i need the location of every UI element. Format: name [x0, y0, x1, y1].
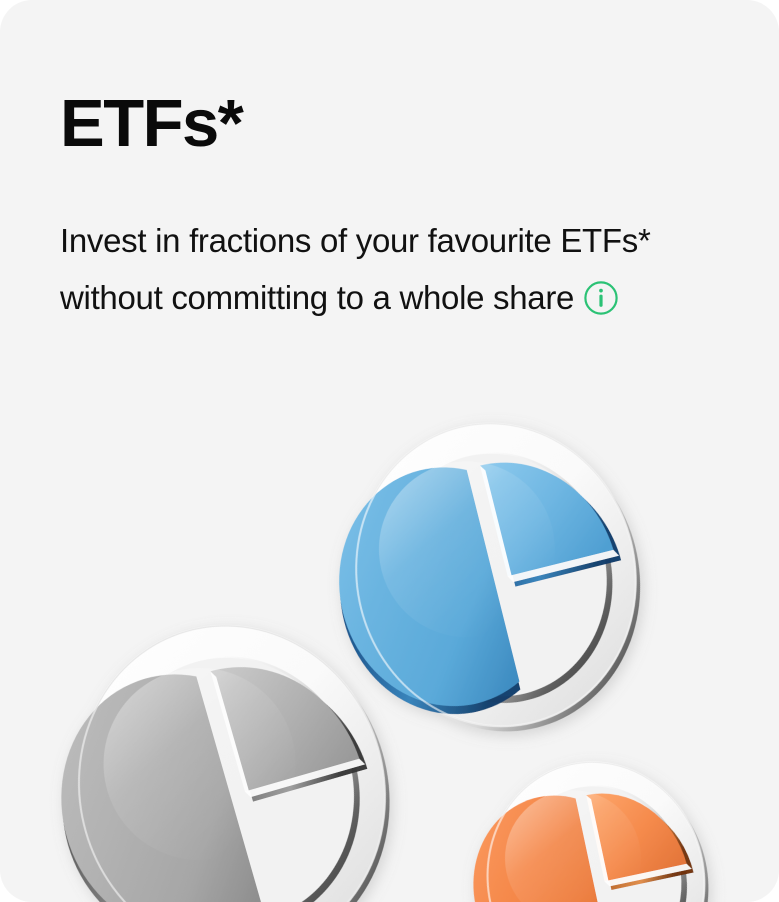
pie-chart-orange-group: [451, 742, 730, 902]
pie-chart-blue-group: [305, 393, 672, 767]
page-title: ETFs*: [60, 88, 740, 160]
subtitle-text: Invest in fractions of your favourite ET…: [60, 222, 651, 316]
page-subtitle: Invest in fractions of your favourite ET…: [60, 212, 728, 326]
subtitle-wrapper: Invest in fractions of your favourite ET…: [60, 212, 728, 326]
etf-promo-card: ETFs* Invest in fractions of your favour…: [0, 0, 779, 902]
info-icon[interactable]: [583, 280, 619, 316]
promo-text-block: ETFs* Invest in fractions of your favour…: [60, 88, 740, 326]
pie-chart-gray-group: [20, 589, 428, 902]
